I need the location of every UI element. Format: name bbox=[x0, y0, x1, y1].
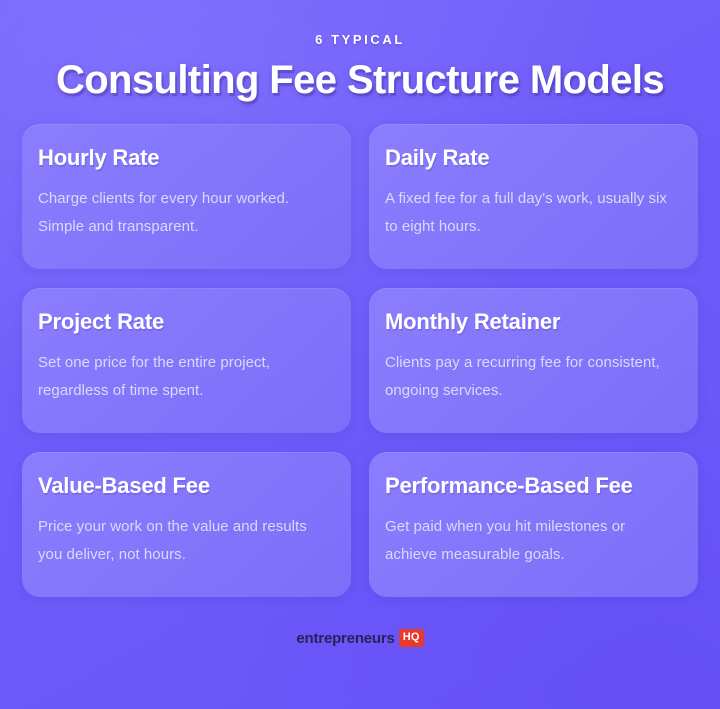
card-description: Price your work on the value and results… bbox=[38, 513, 331, 569]
card-description: A fixed fee for a full day's work, usual… bbox=[385, 185, 678, 241]
brand-logo[interactable]: entrepreneurs HQ bbox=[296, 629, 423, 647]
poster-footer: entrepreneurs HQ bbox=[22, 629, 698, 647]
fee-model-card-value-based-fee[interactable]: Value-Based Fee Price your work on the v… bbox=[22, 452, 351, 597]
fee-model-card-daily-rate[interactable]: Daily Rate A fixed fee for a full day's … bbox=[369, 124, 698, 269]
brand-logo-wordmark: entrepreneurs bbox=[296, 631, 394, 646]
fee-model-card-grid: Hourly Rate Charge clients for every hou… bbox=[22, 124, 698, 597]
card-description: Clients pay a recurring fee for consiste… bbox=[385, 349, 678, 405]
card-description: Charge clients for every hour worked. Si… bbox=[38, 185, 331, 241]
card-title: Value-Based Fee bbox=[38, 474, 331, 498]
fee-model-card-performance-based-fee[interactable]: Performance-Based Fee Get paid when you … bbox=[369, 452, 698, 597]
fee-model-card-hourly-rate[interactable]: Hourly Rate Charge clients for every hou… bbox=[22, 124, 351, 269]
page-title: Consulting Fee Structure Models bbox=[22, 58, 698, 102]
card-title: Hourly Rate bbox=[38, 146, 331, 170]
eyebrow-label: 6 TYPICAL bbox=[22, 33, 698, 46]
card-title: Performance-Based Fee bbox=[385, 474, 678, 498]
card-description: Get paid when you hit milestones or achi… bbox=[385, 513, 678, 569]
brand-logo-badge: HQ bbox=[399, 629, 424, 647]
card-description: Set one price for the entire project, re… bbox=[38, 349, 331, 405]
card-title: Monthly Retainer bbox=[385, 310, 678, 334]
card-title: Project Rate bbox=[38, 310, 331, 334]
fee-model-card-project-rate[interactable]: Project Rate Set one price for the entir… bbox=[22, 288, 351, 433]
infographic-poster: 6 TYPICAL Consulting Fee Structure Model… bbox=[0, 0, 720, 709]
poster-header: 6 TYPICAL Consulting Fee Structure Model… bbox=[22, 0, 698, 102]
fee-model-card-monthly-retainer[interactable]: Monthly Retainer Clients pay a recurring… bbox=[369, 288, 698, 433]
card-title: Daily Rate bbox=[385, 146, 678, 170]
